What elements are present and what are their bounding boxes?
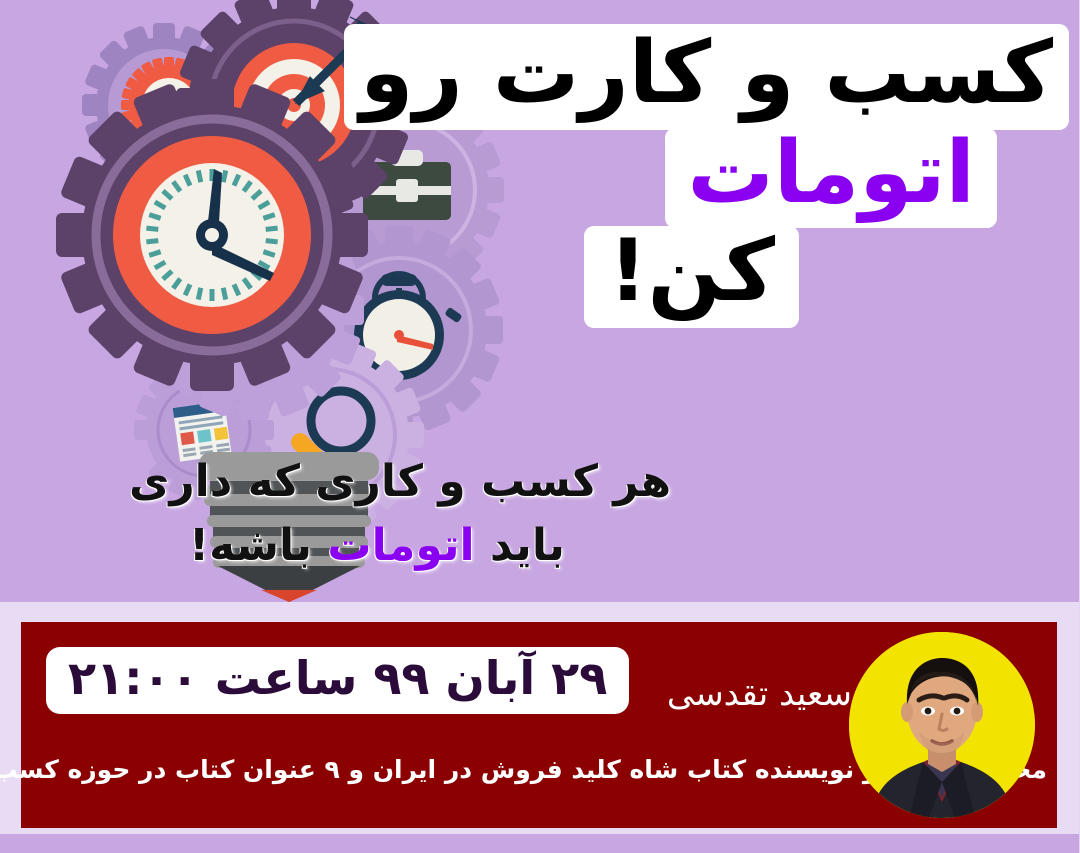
- event-date-chip: ۲۹ آبان ۹۹ ساعت ۲۱:۰۰: [47, 647, 630, 714]
- headline-line-2: اتومات: [688, 123, 976, 223]
- speedometer-gauge-icon: [114, 136, 312, 334]
- poster-footer-strip: [0, 834, 1080, 853]
- speaker-avatar: [850, 632, 1036, 818]
- poster-root: کسب و کارت رو اتومات کن! هر کسب و کاری ک…: [0, 0, 1080, 853]
- gear-dark-gauge: [57, 79, 369, 391]
- subheadline-line-2-prefix: باید: [476, 520, 566, 571]
- headline-block: کسب و کارت رو اتومات کن!: [470, 24, 1070, 328]
- headline-box-2: اتومات: [666, 128, 998, 228]
- event-panel: ۲۹ آبان ۹۹ ساعت ۲۱:۰۰ سعید تقدسی مخترع,م…: [22, 622, 1058, 828]
- headline-box-1: کسب و کارت رو: [345, 24, 1070, 130]
- subheadline-line-2: باید اتومات باشه!: [130, 514, 930, 578]
- hero-section: کسب و کارت رو اتومات کن! هر کسب و کاری ک…: [0, 0, 1080, 602]
- subheadline-line-1: هر کسب و کاری که داری: [130, 450, 930, 514]
- headline-line-1: کسب و کارت رو: [361, 23, 1054, 123]
- headline-box-3: کن!: [585, 226, 800, 328]
- headline-row-2: اتومات: [470, 128, 998, 228]
- subheadline-block: هر کسب و کاری که داری باید اتومات باشه!: [130, 450, 930, 578]
- event-date-time: ۲۹ آبان ۹۹ ساعت ۲۱:۰۰: [69, 653, 608, 704]
- subheadline-line-2-suffix: باشه!: [190, 520, 328, 571]
- headline-line-3: کن!: [609, 221, 776, 321]
- subheadline-line-2-accent: اتومات: [328, 520, 475, 571]
- headline-row-3: کن!: [470, 226, 800, 328]
- speaker-name: سعید تقدسی: [668, 674, 853, 714]
- headline-row-1: کسب و کارت رو: [470, 24, 1070, 130]
